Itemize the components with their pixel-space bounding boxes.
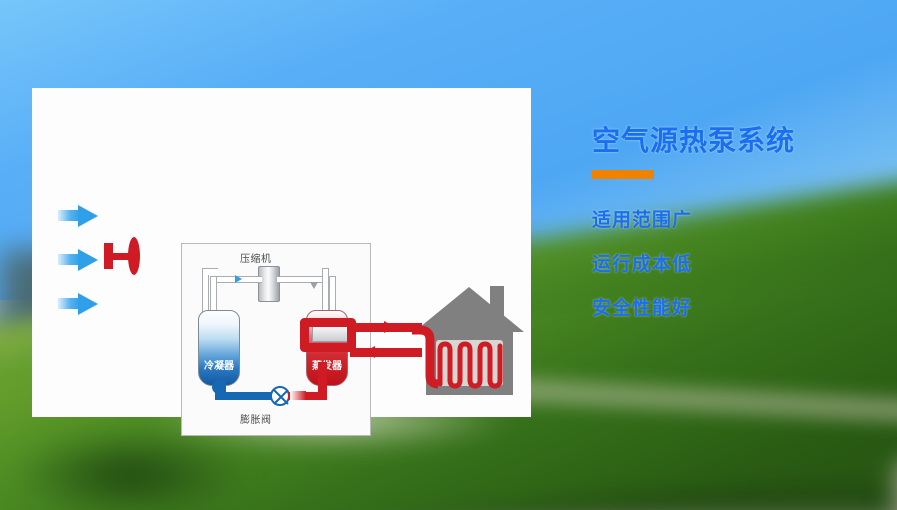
bullet-item-3: 安全性能好	[592, 293, 892, 320]
pipe-left-riser	[210, 276, 217, 314]
accent-bar	[592, 170, 654, 179]
content-panel: 压缩机 冷凝器 蒸发器	[32, 88, 531, 417]
house-svg	[412, 284, 527, 397]
airflow-arrow-1-tail	[58, 210, 80, 221]
pipe-blue-elbow	[212, 380, 226, 394]
airflow-arrow-1	[78, 205, 98, 227]
pipe-supply-arrow	[384, 321, 395, 333]
condenser-body: 冷凝器	[198, 310, 240, 386]
bullet-item-2: 运行成本低	[592, 249, 892, 276]
fan-blade	[128, 237, 140, 275]
evaporator-coil-plate	[312, 326, 348, 342]
background-shadow	[10, 430, 250, 510]
compressor-body	[258, 266, 280, 302]
pipe-left-outer	[202, 268, 209, 316]
radiator-inlet	[412, 330, 438, 384]
house-illustration	[412, 284, 527, 397]
pipe-right-riser	[329, 276, 336, 314]
airflow-arrow-2-tail	[58, 254, 80, 265]
refrigeration-cycle-diagram: 压缩机 冷凝器 蒸发器	[181, 243, 371, 436]
pipe-evaporator-downcomer	[318, 362, 327, 400]
pipe-vapor-arrow	[290, 391, 306, 400]
expansion-valve-label: 膨胀阀	[240, 411, 272, 426]
compressor-label: 压缩机	[240, 250, 272, 265]
pipe-return-arrow	[364, 346, 375, 358]
slide-text-block: 空气源热泵系统 适用范围广 运行成本低 安全性能好	[592, 126, 892, 320]
expansion-valve-icon	[270, 386, 290, 406]
radiator-coil	[440, 344, 500, 386]
flow-arrow-left	[235, 275, 242, 283]
airflow-arrow-3-tail	[58, 298, 80, 309]
bullet-item-1: 适用范围广	[592, 205, 892, 232]
airflow-arrow-3	[78, 293, 98, 315]
evaporator-label: 蒸发器	[307, 357, 347, 372]
pipe-left-elbow	[202, 268, 218, 275]
page-title: 空气源热泵系统	[592, 126, 892, 157]
expansion-valve-glyph	[273, 389, 289, 405]
condenser-label: 冷凝器	[199, 357, 239, 372]
airflow-arrow-2	[78, 249, 98, 271]
roof	[414, 287, 524, 332]
flow-arrow-right	[310, 282, 318, 289]
pipe-right-outer	[322, 268, 329, 316]
evaporator-coil-bend-left	[300, 318, 309, 352]
